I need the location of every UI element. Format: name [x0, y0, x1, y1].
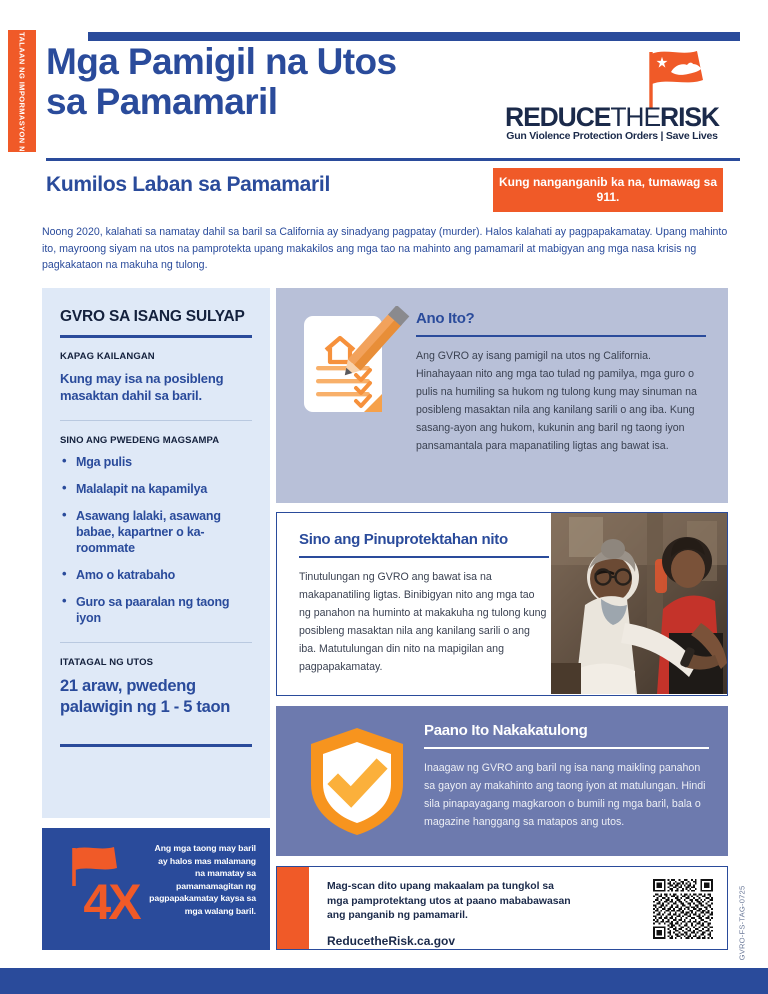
- sidebar-bottom-rule: [60, 744, 252, 747]
- vertical-tab: TALAAN NG IMPORMASYON NG GVRO: [8, 30, 36, 152]
- sidebar-divider-2: [60, 642, 252, 643]
- list-item: Asawang lalaki, asawang babae, kapartner…: [60, 508, 252, 556]
- page-title-line2: sa Pamamaril: [46, 82, 476, 122]
- duration-label: ITATAGAL NG UTOS: [60, 657, 252, 668]
- reduce-the-risk-logo: REDUCETHERISK Gun Violence Protection Or…: [487, 48, 737, 140]
- panel-what-is-it: Ano Ito? Ang GVRO ay isang pamigil na ut…: [276, 288, 728, 503]
- sidebar-divider-1: [60, 420, 252, 421]
- document-code-text: GVRO-FS-TAG-0725: [738, 886, 747, 961]
- logo-word-the: THE: [610, 102, 660, 132]
- panel-how-title: Paano Ito Nakakatulong: [424, 722, 709, 739]
- california-bear-flag-icon: [607, 48, 715, 108]
- logo-wordmark: REDUCETHERISK: [487, 102, 737, 133]
- qr-body: Mag-scan dito upang makaalam pa tungkol …: [327, 880, 577, 948]
- panel-what-rule: [416, 335, 706, 337]
- page-title-line1: Mga Pamigil na Utos: [46, 42, 476, 82]
- clipboard-pencil-icon: [296, 306, 416, 426]
- qr-url[interactable]: ReducetheRisk.ca.gov: [327, 934, 577, 948]
- sidebar-title: GVRO SA ISANG SULYAP: [60, 308, 252, 326]
- photo-two-women: [551, 513, 727, 694]
- emergency-callout-text: Kung nanganganib ka na, tumawag sa 911.: [493, 175, 723, 205]
- when-needed-text: Kung may isa na posibleng masaktan dahil…: [60, 370, 252, 404]
- panel-who-it-protects: Sino ang Pinuprotektahan nito Tinutulung…: [276, 512, 728, 696]
- qr-code[interactable]: [653, 879, 713, 939]
- panel-what-text: Ang GVRO ay isang pamigil na utos ng Cal…: [416, 347, 706, 455]
- statistic-text: Ang mga taong may baril ay halos mas mal…: [146, 842, 256, 917]
- vertical-tab-label: TALAAN NG IMPORMASYON NG GVRO: [18, 32, 27, 150]
- gvro-at-a-glance-card: GVRO SA ISANG SULYAP KAPAG KAILANGAN Kun…: [42, 288, 270, 818]
- statistic-block: 4X Ang mga taong may baril ay halos mas …: [42, 828, 270, 950]
- section-subhead: Kumilos Laban sa Pamamaril: [46, 173, 330, 197]
- logo-word-risk: RISK: [660, 102, 719, 132]
- sidebar-title-rule: [60, 335, 252, 338]
- panel-who-rule: [299, 556, 549, 558]
- footer-bar: [0, 968, 768, 994]
- logo-word-reduce: REDUCE: [505, 102, 610, 132]
- list-item: Amo o katrabaho: [60, 567, 252, 583]
- duration-text: 21 araw, pwedeng palawigin ng 1 - 5 taon: [60, 676, 252, 718]
- panel-what-title: Ano Ito?: [416, 310, 706, 327]
- panel-how-body: Paano Ito Nakakatulong Inaagaw ng GVRO a…: [424, 722, 709, 831]
- document-code: GVRO-FS-TAG-0725: [735, 868, 749, 978]
- panel-how-text: Inaagaw ng GVRO ang baril ng isa nang ma…: [424, 759, 709, 831]
- shield-check-icon: [298, 722, 416, 840]
- panel-who-title: Sino ang Pinuprotektahan nito: [299, 531, 549, 548]
- list-item: Guro sa paaralan ng taong iyon: [60, 594, 252, 626]
- header-rule: [88, 32, 740, 41]
- who-can-file-label: SINO ANG PWEDENG MAGSAMPA: [60, 435, 252, 446]
- who-can-file-list: Mga pulis Malalapit na kapamilya Asawang…: [60, 454, 252, 626]
- panel-how-it-helps: Paano Ito Nakakatulong Inaagaw ng GVRO a…: [276, 706, 728, 856]
- title-divider: [46, 158, 740, 161]
- panel-who-text: Tinutulungan ng GVRO ang bawat isa na ma…: [299, 568, 549, 676]
- qr-callout: Mag-scan dito upang makaalam pa tungkol …: [276, 866, 728, 950]
- panel-who-body: Sino ang Pinuprotektahan nito Tinutulung…: [299, 531, 549, 676]
- masthead: Mga Pamigil na Utos sa Pamamaril: [46, 42, 476, 122]
- logo-tagline: Gun Violence Protection Orders | Save Li…: [487, 130, 737, 142]
- intro-paragraph: Noong 2020, kalahati sa namatay dahil sa…: [42, 224, 728, 274]
- panel-what-body: Ano Ito? Ang GVRO ay isang pamigil na ut…: [416, 310, 706, 455]
- qr-accent-bar: [277, 867, 309, 949]
- when-needed-label: KAPAG KAILANGAN: [60, 351, 252, 362]
- panel-how-rule: [424, 747, 709, 749]
- qr-instruction-text: Mag-scan dito upang makaalam pa tungkol …: [327, 880, 577, 924]
- fact-sheet-page: TALAAN NG IMPORMASYON NG GVRO Mga Pamigi…: [0, 0, 768, 994]
- list-item: Mga pulis: [60, 454, 252, 470]
- list-item: Malalapit na kapamilya: [60, 481, 252, 497]
- emergency-callout: Kung nanganganib ka na, tumawag sa 911.: [493, 168, 723, 212]
